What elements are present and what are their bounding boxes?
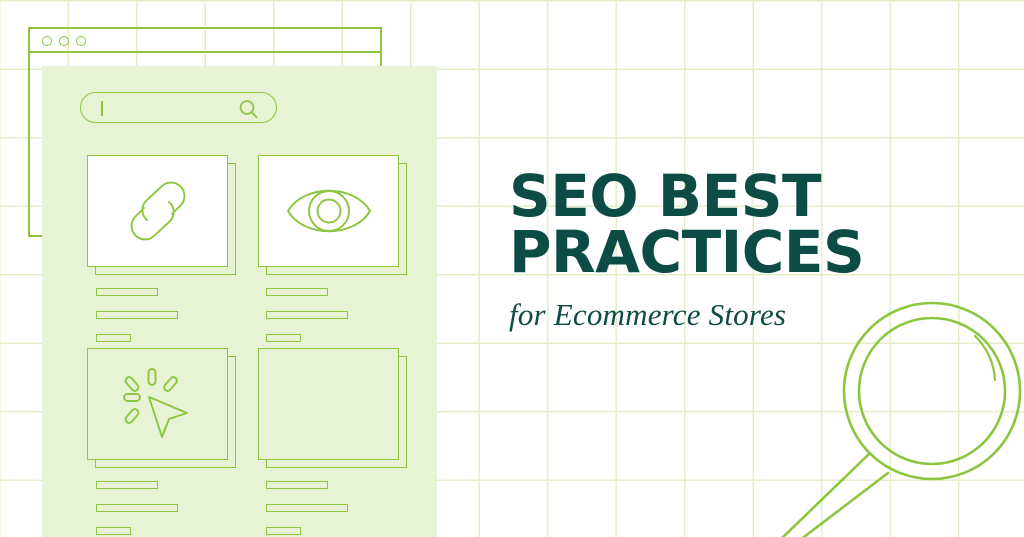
card-surface — [258, 155, 399, 267]
text-placeholder-bar — [96, 527, 131, 535]
text-placeholder-bar — [266, 481, 328, 489]
magnifying-glass-icon — [770, 288, 1024, 537]
text-placeholder-bar — [96, 311, 178, 319]
text-caret — [101, 101, 103, 116]
text-placeholder-bar — [96, 504, 178, 512]
text-placeholder-group-2 — [266, 288, 348, 357]
content-card-eye[interactable] — [258, 155, 410, 277]
text-placeholder-group-1 — [96, 288, 178, 357]
text-placeholder-bar — [96, 481, 158, 489]
poster-canvas: SEO BEST PRACTICES for Ecommerce Stores — [0, 0, 1024, 537]
link-icon — [115, 172, 201, 250]
eye-icon — [282, 174, 376, 248]
text-placeholder-bar — [266, 334, 301, 342]
text-placeholder-bar — [266, 288, 328, 296]
text-placeholder-group-3 — [96, 481, 178, 537]
window-dot-icon-2 — [59, 36, 69, 46]
text-placeholder-bar — [96, 288, 158, 296]
text-placeholder-bar — [96, 334, 131, 342]
cursor-click-icon — [115, 363, 201, 445]
card-surface — [258, 348, 399, 460]
search-input[interactable] — [80, 92, 277, 123]
content-card-blank[interactable] — [258, 348, 410, 470]
page-title: SEO BEST PRACTICES — [509, 168, 979, 281]
card-surface — [87, 348, 228, 460]
text-placeholder-bar — [266, 504, 348, 512]
text-placeholder-group-4 — [266, 481, 348, 537]
browser-titlebar — [30, 29, 380, 53]
window-dot-icon-1 — [42, 36, 52, 46]
window-dot-icon-3 — [76, 36, 86, 46]
text-placeholder-bar — [266, 311, 348, 319]
search-icon[interactable] — [238, 99, 260, 124]
window-controls — [42, 36, 86, 46]
content-card-click[interactable] — [87, 348, 239, 470]
text-placeholder-bar — [266, 527, 301, 535]
card-surface — [87, 155, 228, 267]
content-card-link[interactable] — [87, 155, 239, 277]
